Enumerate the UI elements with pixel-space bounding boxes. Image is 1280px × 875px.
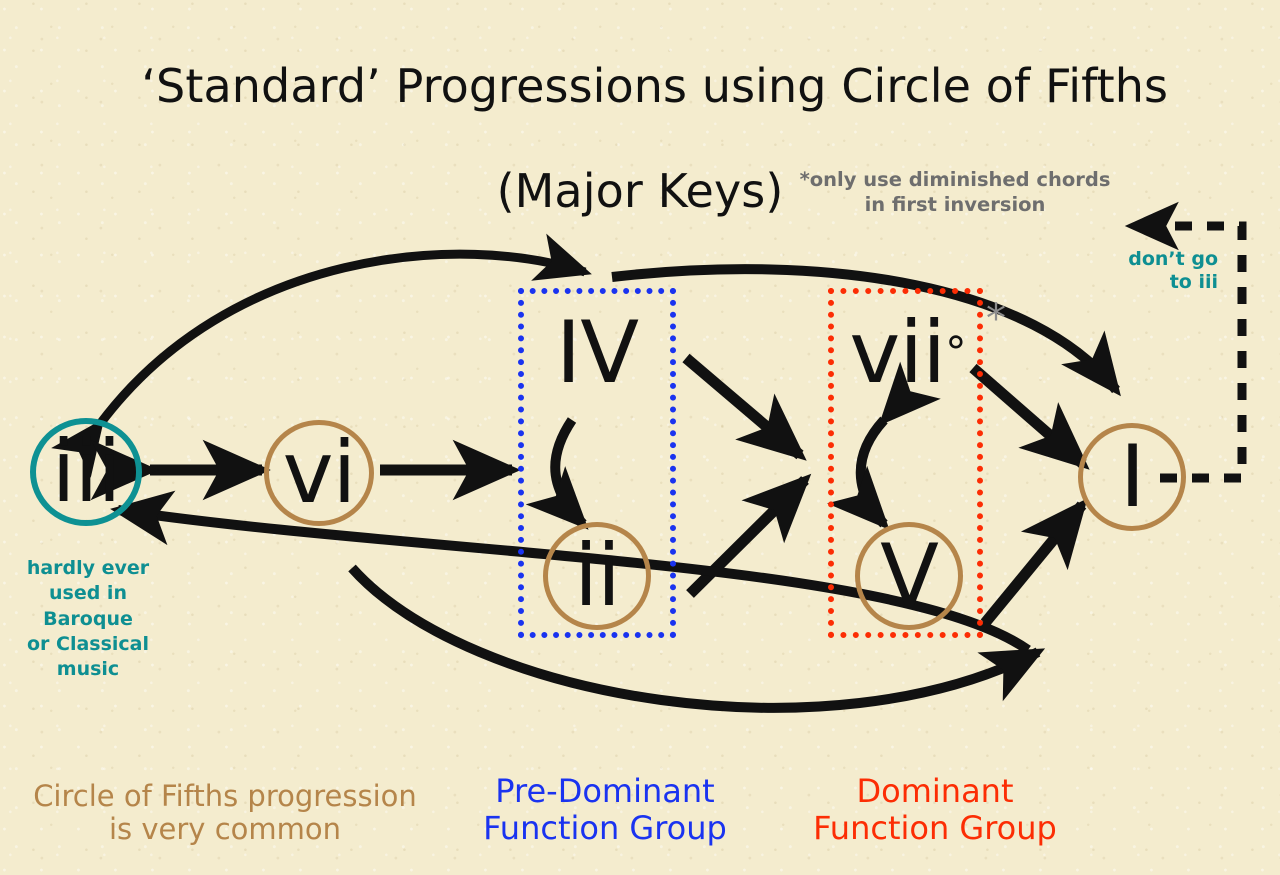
node-vi[interactable]: vi (264, 420, 374, 526)
node-iii[interactable]: iii (30, 418, 142, 526)
edge-vii-I (973, 368, 1083, 464)
diminished-chord-footnote: *only use diminished chords in first inv… (770, 168, 1140, 218)
edge-V-I (985, 505, 1082, 623)
edge-IV-vii (686, 358, 800, 455)
legend-dominant-line1: Dominant (770, 773, 1100, 810)
page-title: ‘Standard’ Progressions using Circle of … (0, 12, 1280, 266)
legend-pre-dominant-line1: Pre-Dominant (440, 773, 770, 810)
edge-iii-IV (100, 254, 585, 424)
node-IV[interactable]: IV (524, 298, 670, 408)
dont-go-to-iii-label: don’t go to iii (1108, 248, 1218, 294)
legend-dominant-line2: Function Group (770, 810, 1100, 847)
legend-circle-of-fifths: Circle of Fifths progression is very com… (10, 780, 440, 847)
node-vii-diminished[interactable]: vii° (833, 298, 983, 408)
legend-dominant: Dominant Function Group (770, 773, 1100, 847)
node-vii-label: vii (849, 303, 945, 403)
legend-circle-of-fifths-line2: is very common (10, 813, 440, 847)
legend-circle-of-fifths-line1: Circle of Fifths progression (10, 780, 440, 814)
node-ii[interactable]: ii (543, 522, 651, 630)
node-I[interactable]: I (1078, 423, 1186, 531)
title-line-1: ‘Standard’ Progressions using Circle of … (141, 59, 1168, 113)
legend-pre-dominant-line2: Function Group (440, 810, 770, 847)
diminished-symbol: ° (945, 328, 967, 378)
asterisk-marker: * (986, 298, 1006, 341)
hardly-ever-used-label: hardly ever used in Baroque or Classical… (18, 556, 158, 682)
legend-pre-dominant: Pre-Dominant Function Group (440, 773, 770, 847)
node-V[interactable]: V (855, 522, 963, 630)
